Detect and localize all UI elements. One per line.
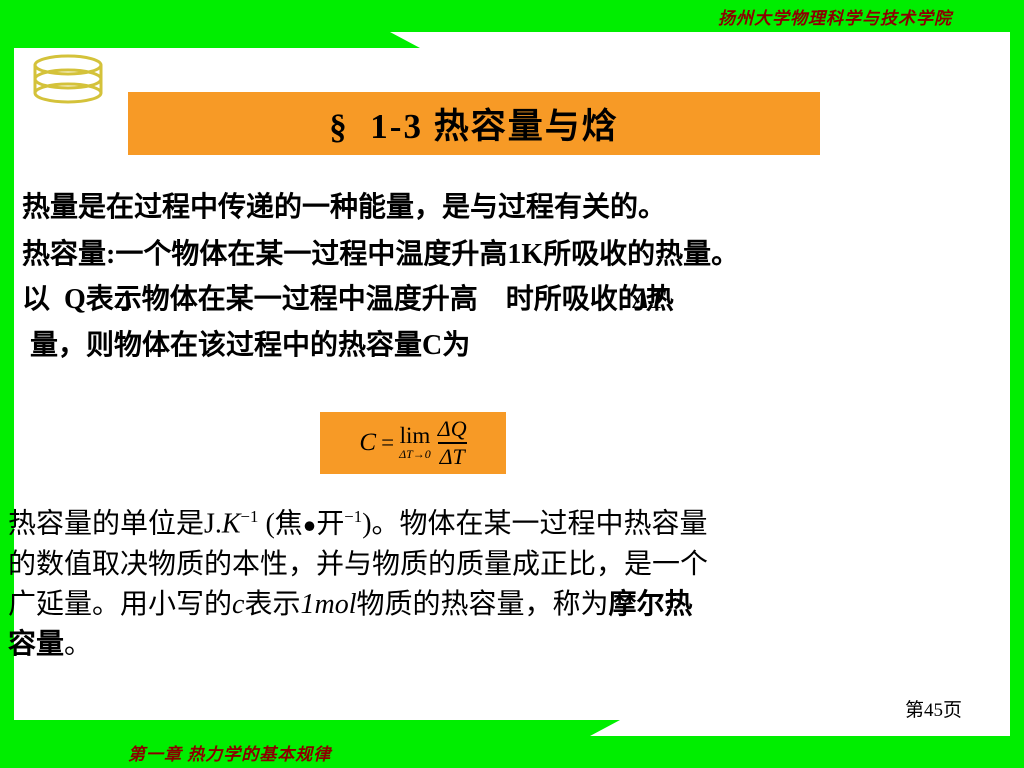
- formula-denominator: ΔT: [440, 445, 465, 469]
- page-number: 第45页: [905, 695, 962, 722]
- para-text-a: 热容量的单位是J.: [8, 508, 222, 539]
- paragraph-line-4: 容量。: [8, 625, 1018, 665]
- para4-bold-term: 容量: [8, 629, 64, 660]
- body-line-2: 热容量:一个物体在某一过程中温度升高1K所吸收的热量。: [22, 232, 739, 272]
- formula-box: C = lim ΔT→0 ΔQ ΔT: [320, 412, 506, 474]
- formula-numerator: ΔQ: [438, 417, 467, 441]
- paragraph-line-2: 的数值取决物质的本性，并与物质的质量成正比，是一个: [8, 545, 1018, 585]
- para3-symbol-c: c: [232, 589, 244, 620]
- paragraph-line-3: 广延量。用小写的c表示1mol物质的热容量，称为摩尔热: [8, 585, 1018, 625]
- para4-end: 。: [64, 629, 92, 660]
- slide: 扬州大学物理科学与技术学院 第一章 热力学的基本规律 § 1-3 热容量与焓 热…: [0, 0, 1024, 768]
- para3-text-d: 物质的热容量，称为: [356, 589, 608, 620]
- para-sup-2: −1: [344, 507, 362, 526]
- para-sup-1: −1: [241, 507, 259, 526]
- formula-limit: lim ΔT→0: [399, 424, 438, 461]
- para-text-b: (焦: [258, 508, 302, 539]
- para3-bold-term: 摩尔热: [608, 589, 692, 620]
- formula-limit-subscript: ΔT→0: [399, 447, 431, 461]
- page-title: § 1-3 热容量与焓: [329, 98, 618, 149]
- spiral-decoration-icon: [28, 52, 112, 108]
- slide-title-box: § 1-3 热容量与焓: [128, 92, 820, 155]
- paragraph-line-1: 热容量的单位是J.K−1 (焦●开−1)。物体在某一过程中热容量: [8, 497, 1018, 545]
- formula-fraction: ΔQ ΔT: [438, 417, 467, 469]
- footer-title: 第一章 热力学的基本规律: [128, 740, 331, 765]
- body-line-1: 热量是在过程中传递的一种能量，是与过程有关的。: [22, 185, 666, 225]
- body-paragraph: 热容量的单位是J.K−1 (焦●开−1)。物体在某一过程中热容量 的数值取决物质…: [8, 497, 1018, 665]
- para3-text-b: 表示: [244, 589, 300, 620]
- header-title: 扬州大学物理科学与技术学院: [718, 4, 952, 29]
- para3-value-mol: 1mol: [300, 589, 356, 620]
- bottom-banner-notch: [0, 720, 620, 736]
- top-banner-notch: [0, 32, 420, 48]
- body-line-4: 量，则物体在该过程中的热容量C为: [30, 323, 470, 363]
- para-text-c: 开: [316, 508, 344, 539]
- delta-symbol-overlay-1: Δ: [117, 285, 133, 315]
- para3-text-a: 广延量。用小写的: [8, 589, 232, 620]
- formula-limit-word: lim: [400, 424, 431, 447]
- para-symbol-k: K: [222, 508, 241, 539]
- para-text-d: )。物体在某一过程中热容量: [362, 508, 707, 539]
- para-bullet-dot: ●: [303, 512, 317, 537]
- formula-lhs: C: [359, 429, 376, 457]
- formula-equals: =: [376, 430, 399, 456]
- delta-t-overlay-2: ΔT: [633, 285, 665, 315]
- heat-capacity-formula: C = lim ΔT→0 ΔQ ΔT: [359, 417, 466, 469]
